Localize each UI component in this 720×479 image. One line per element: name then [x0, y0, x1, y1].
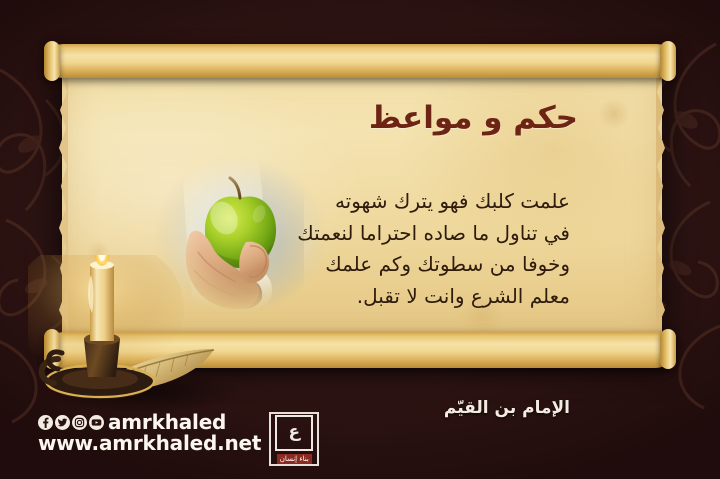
page-title: حكم و مواعظ: [369, 100, 578, 136]
scroll-rod-cap-top-right: [660, 41, 676, 81]
brand-logo-mark: ع: [275, 415, 313, 451]
quote-line: علمت كلبك فهو يترك شهوته: [240, 186, 570, 218]
quote-line: وخوفا من سطوتك وكم علمك: [240, 249, 570, 281]
poster-canvas: حكم و مواعظ علمت كلبك فهو يترك شهوته في …: [0, 0, 720, 479]
parchment-torn-edge-right: [656, 62, 668, 350]
scroll-rod-cap-bottom-right: [660, 329, 676, 369]
brand-block[interactable]: ع بناء إنسان amrkhaled www.amrkhaled.net: [38, 412, 319, 466]
attribution-author: الإمام بن القيّم: [444, 398, 570, 418]
quote-text: علمت كلبك فهو يترك شهوته في تناول ما صاد…: [240, 186, 570, 312]
scroll-rod-cap-top-left: [44, 41, 60, 81]
youtube-icon[interactable]: [89, 415, 104, 430]
twitter-icon[interactable]: [55, 415, 70, 430]
facebook-icon[interactable]: [38, 415, 53, 430]
scroll-rod-top: [46, 44, 674, 78]
candle-and-quill: [28, 255, 258, 430]
social-links-row[interactable]: amrkhaled: [38, 412, 261, 432]
brand-logo: ع بناء إنسان: [269, 412, 319, 466]
candle-illustration: [28, 255, 258, 430]
brand-logo-tagline: بناء إنسان: [277, 454, 312, 464]
social-handle[interactable]: amrkhaled: [108, 412, 226, 432]
instagram-icon[interactable]: [72, 415, 87, 430]
quote-line: معلم الشرع وانت لا تقبل.: [240, 281, 570, 313]
website-url[interactable]: www.amrkhaled.net: [38, 433, 261, 454]
quote-line: في تناول ما صاده احتراما لنعمتك: [240, 218, 570, 250]
